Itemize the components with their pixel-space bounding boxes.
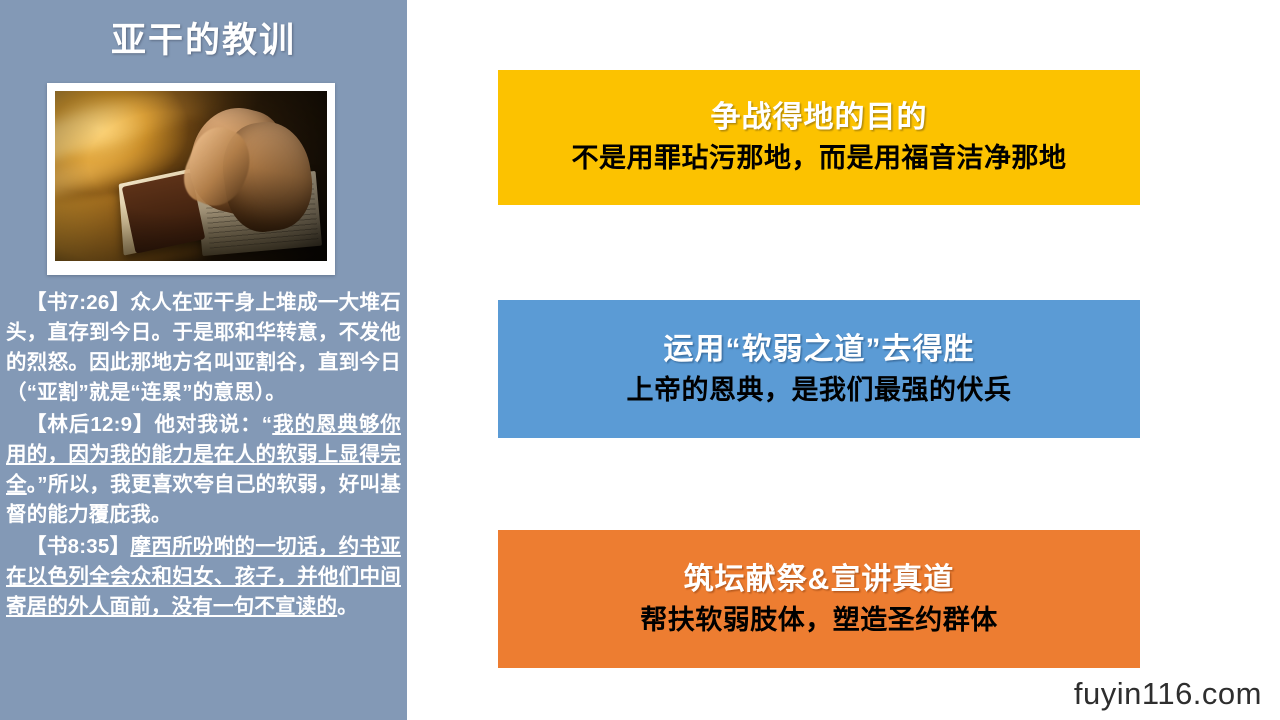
photo-vignette <box>55 91 327 261</box>
banner-subtitle: 不是用罪玷污那地，而是用福音洁净那地 <box>572 142 1067 174</box>
scripture-body-3-after: 。 <box>337 595 358 618</box>
banner-heading: 运用“软弱之道”去得胜 <box>664 332 975 368</box>
banner-subtitle: 帮扶软弱肢体，塑造圣约群体 <box>640 604 998 636</box>
content-banner-purpose: 争战得地的目的 不是用罪玷污那地，而是用福音洁净那地 <box>498 70 1140 205</box>
slide-canvas: 亚干的教训 【书7:26】众人在亚干身上堆成一大堆石头，直存到今日。于是耶和华转… <box>0 0 1280 720</box>
praying-hands-on-bible-photo <box>55 91 327 261</box>
banner-heading: 争战得地的目的 <box>711 100 928 136</box>
page-title: 亚干的教训 <box>0 22 407 61</box>
scripture-reference-3: 【书8:35】 <box>26 535 130 558</box>
scripture-paragraph-2: 【林后12:9】他对我说：“我的恩典够你用的，因为我的能力是在人的软弱上显得完全… <box>6 410 401 530</box>
site-watermark: fuyin116.com <box>1074 676 1262 712</box>
scripture-text-block: 【书7:26】众人在亚干身上堆成一大堆石头，直存到今日。于是耶和华转意，不发他的… <box>6 288 401 624</box>
banner-heading: 筑坛献祭&宣讲真道 <box>684 562 955 598</box>
scripture-body-2-after: 。”所以，我更喜欢夸自己的软弱，好叫基督的能力覆庇我。 <box>6 473 401 526</box>
content-banner-altar: 筑坛献祭&宣讲真道 帮扶软弱肢体，塑造圣约群体 <box>498 530 1140 668</box>
banner-subtitle: 上帝的恩典，是我们最强的伏兵 <box>627 374 1012 406</box>
scripture-paragraph-1: 【书7:26】众人在亚干身上堆成一大堆石头，直存到今日。于是耶和华转意，不发他的… <box>6 288 401 408</box>
sidebar-panel: 亚干的教训 【书7:26】众人在亚干身上堆成一大堆石头，直存到今日。于是耶和华转… <box>0 0 407 720</box>
scripture-body-2-before: 他对我说：“ <box>154 413 272 436</box>
scripture-reference-1: 【书7:26】 <box>26 291 130 314</box>
content-banner-weakness: 运用“软弱之道”去得胜 上帝的恩典，是我们最强的伏兵 <box>498 300 1140 438</box>
scripture-paragraph-3: 【书8:35】摩西所吩咐的一切话，约书亚在以色列全会众和妇女、孩子，并他们中间寄… <box>6 532 401 622</box>
photo-frame <box>47 83 335 275</box>
scripture-reference-2: 【林后12:9】 <box>26 413 154 436</box>
